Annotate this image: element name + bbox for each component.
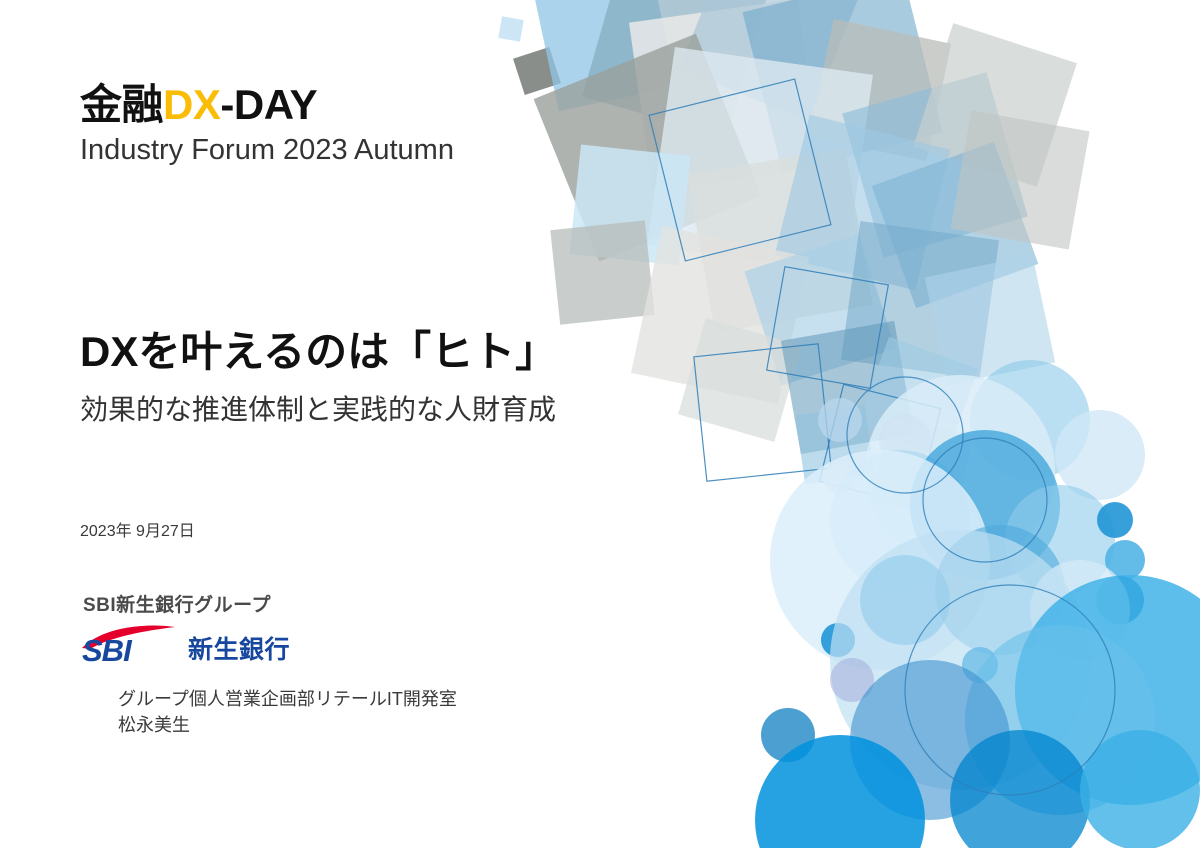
event-logo-highlight: DX [163,81,220,128]
sbi-shinsei-bank-logo: SBI 新生銀行 [80,625,340,671]
event-logo-prefix: 金融 [80,81,163,128]
bank-name-text: 新生銀行 [188,638,290,663]
sbi-wordmark: SBI [82,635,131,666]
presenter-department: グループ個人営業企画部リテールIT開発室 [118,686,457,712]
presenter-block: グループ個人営業企画部リテールIT開発室 松永美生 [118,686,457,738]
group-name: SBI新生銀行グループ [83,590,271,617]
presenter-name: 松永美生 [118,712,457,738]
presentation-subtitle: 効果的な推進体制と実践的な人財育成 [80,388,556,428]
presentation-title: DXを叶えるのは「ヒト」 [80,318,557,379]
event-logo-title: 金融DX-DAY [80,82,454,128]
event-logo: 金融DX-DAY Industry Forum 2023 Autumn [80,82,454,168]
event-logo-subtitle: Industry Forum 2023 Autumn [80,132,454,168]
event-logo-suffix: -DAY [220,81,317,128]
slide-canvas: 金融DX-DAY Industry Forum 2023 Autumn DXを叶… [0,0,1200,848]
slide-content: 金融DX-DAY Industry Forum 2023 Autumn DXを叶… [0,0,1200,848]
presentation-date: 2023年 9月27日 [80,517,195,541]
